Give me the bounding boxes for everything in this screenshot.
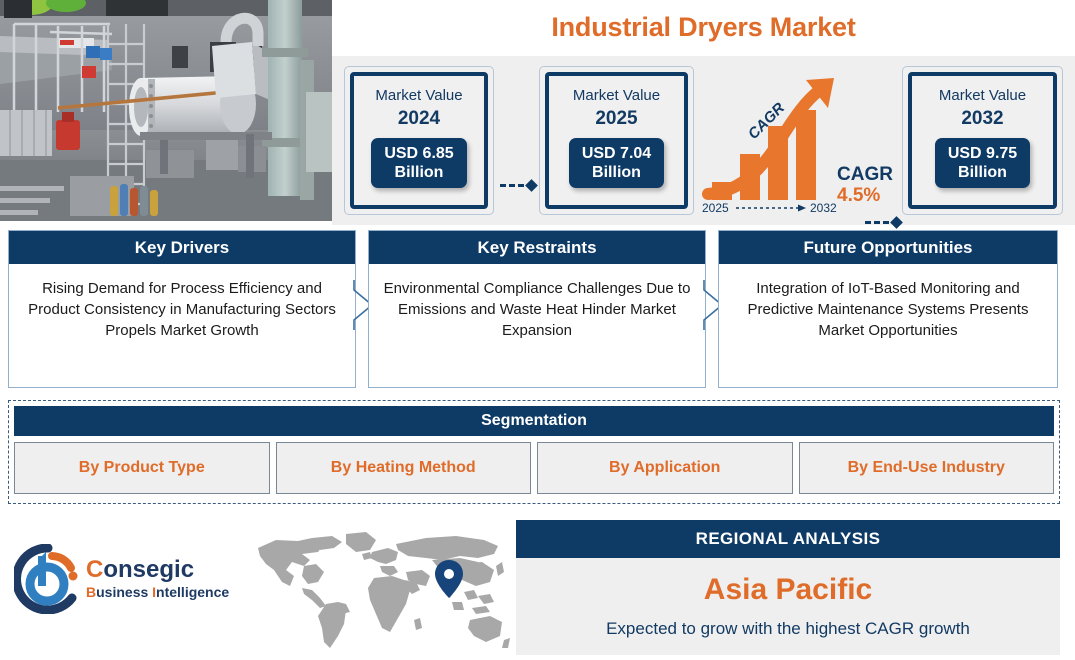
world-map (246, 532, 512, 654)
amount-unit: Billion (592, 164, 641, 181)
future-opportunities-heading: Future Opportunities (719, 231, 1057, 264)
market-value-card-2024: Market Value 2024 USD 6.85 Billion (344, 66, 494, 215)
segment-item-application[interactable]: By Application (537, 442, 793, 494)
amount-unit: Billion (958, 164, 1007, 181)
future-opportunities-card: Future Opportunities Integration of IoT-… (718, 230, 1058, 388)
market-value-label: Market Value (375, 86, 462, 106)
logo-brand-initial: C (86, 556, 103, 583)
logo-brand-rest: onsegic (103, 556, 194, 583)
key-restraints-heading: Key Restraints (369, 231, 705, 264)
amount-value: USD 6.85 (384, 145, 453, 162)
logo-tagline-business: usiness (96, 584, 152, 600)
drivers-restraints-opportunities-row: Key Drivers Rising Demand for Process Ef… (0, 230, 1075, 393)
logo-tagline-intelligence: ntelligence (156, 584, 229, 600)
infographic-page: Industrial Dryers Market Market Value 20… (0, 0, 1075, 660)
diamond-marker (890, 216, 903, 229)
amount-value: USD 7.04 (582, 145, 651, 162)
dashed-line (500, 184, 524, 187)
cagr-axis-end-label: 2032 (810, 201, 837, 214)
future-opportunities-body: Integration of IoT-Based Monitoring and … (719, 264, 1057, 341)
regional-analysis-heading: REGIONAL ANALYSIS (516, 520, 1060, 558)
market-value-amount: USD 7.04 Billion (569, 138, 664, 188)
key-drivers-card: Key Drivers Rising Demand for Process Ef… (8, 230, 356, 388)
segment-item-product-type[interactable]: By Product Type (14, 442, 270, 494)
regional-analysis-note: Expected to grow with the highest CAGR g… (516, 618, 1060, 640)
top-band: Industrial Dryers Market Market Value 20… (0, 0, 1075, 225)
key-restraints-body: Environmental Compliance Challenges Due … (369, 264, 705, 341)
logo-brand-name: Consegic (86, 556, 229, 583)
market-value-amount: USD 6.85 Billion (371, 138, 466, 188)
footer-section: Consegic Business Intelligence (0, 508, 1075, 660)
map-location-pin-icon (435, 560, 463, 598)
logo-tagline: Business Intelligence (86, 584, 229, 601)
market-value-year: 2024 (398, 107, 440, 131)
consegic-logo-text: Consegic Business Intelligence (86, 556, 229, 601)
regional-analysis-region: Asia Pacific (516, 572, 1060, 608)
key-drivers-heading: Key Drivers (9, 231, 355, 264)
market-value-card-2032: Market Value 2032 USD 9.75 Billion (902, 66, 1063, 215)
key-restraints-card: Key Restraints Environmental Compliance … (368, 230, 706, 388)
cagr-value: 4.5% (837, 185, 893, 207)
consegic-logo-mark-icon (14, 544, 82, 614)
market-value-amount: USD 9.75 Billion (935, 138, 1030, 188)
title-and-values-area: Industrial Dryers Market Market Value 20… (332, 0, 1075, 225)
market-values-panel: Market Value 2024 USD 6.85 Billion Marke (332, 56, 1075, 225)
market-value-card-2025: Market Value 2025 USD 7.04 Billion (539, 66, 694, 215)
market-value-label: Market Value (939, 86, 1026, 106)
segmentation-items: By Product Type By Heating Method By App… (14, 442, 1054, 494)
amount-value: USD 9.75 (948, 145, 1017, 162)
amount-unit: Billion (395, 164, 444, 181)
market-value-year: 2025 (595, 107, 637, 131)
segmentation-heading: Segmentation (14, 406, 1054, 436)
market-value-year: 2032 (961, 107, 1003, 131)
connector-cagr-to-2032 (865, 216, 901, 228)
consegic-logo: Consegic Business Intelligence (14, 544, 239, 616)
cagr-axis-start-label: 2025 (702, 201, 729, 214)
segmentation-section: Segmentation By Product Type By Heating … (8, 400, 1060, 504)
cagr-value-block: CAGR 4.5% (837, 164, 893, 207)
diamond-marker (525, 179, 538, 192)
market-value-label: Market Value (573, 86, 660, 106)
hero-image-industrial-dryer (0, 0, 332, 221)
regional-analysis-box: REGIONAL ANALYSIS Asia Pacific Expected … (516, 520, 1060, 655)
segment-item-heating-method[interactable]: By Heating Method (276, 442, 532, 494)
connector-2024-to-2025 (500, 179, 536, 191)
cagr-label: CAGR (837, 164, 893, 185)
key-drivers-body: Rising Demand for Process Efficiency and… (9, 264, 355, 341)
logo-tagline-b: B (86, 584, 96, 600)
segment-item-end-use-industry[interactable]: By End-Use Industry (799, 442, 1055, 494)
page-title: Industrial Dryers Market (332, 12, 1075, 43)
dashed-line (865, 221, 889, 224)
